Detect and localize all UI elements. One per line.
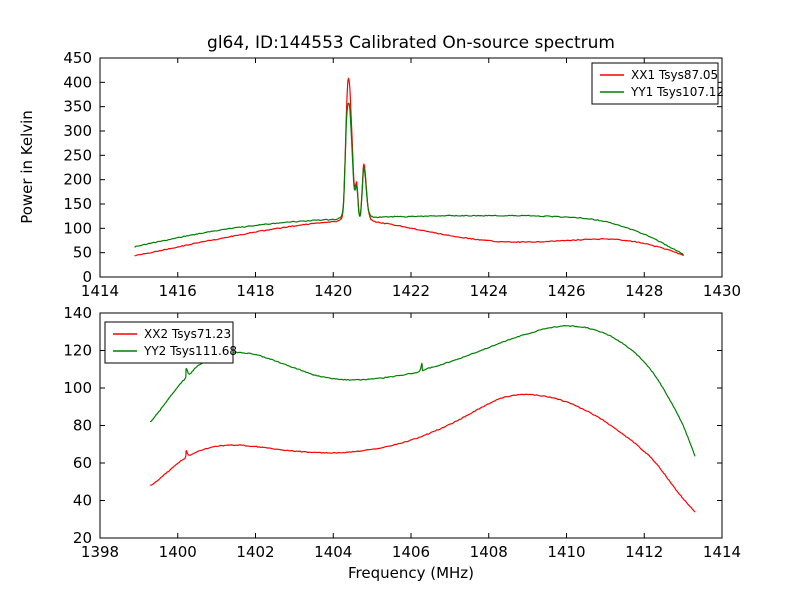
y-tick-label: 100 (63, 219, 92, 237)
x-tick-label: 1426 (547, 282, 585, 300)
y-tick-label: 50 (73, 244, 92, 262)
y-tick-label: 20 (73, 529, 92, 547)
x-tick-label: 1430 (703, 282, 741, 300)
bottom-panel-legend[interactable]: XX2 Tsys71.23 YY2 Tsys111.68 (105, 322, 237, 363)
spectrum-figure: gl64, ID:144553 Calibrated On-source spe… (0, 0, 800, 600)
x-tick-label: 1408 (470, 543, 508, 561)
x-tick-label: 1420 (314, 282, 352, 300)
top-legend-label-yy1: YY1 Tsys107.12 (630, 85, 724, 99)
x-tick-label: 1422 (392, 282, 430, 300)
y-tick-label: 80 (73, 417, 92, 435)
y-tick-label: 450 (63, 49, 92, 67)
x-tick-label: 1402 (236, 543, 274, 561)
y-tick-label: 300 (63, 122, 92, 140)
y-tick-label: 400 (63, 73, 92, 91)
y-tick-label: 60 (73, 454, 92, 472)
top-panel-legend[interactable]: XX1 Tsys87.05 YY1 Tsys107.12 (592, 63, 724, 104)
x-tick-label: 1406 (392, 543, 430, 561)
y-tick-label: 140 (63, 304, 92, 322)
y-tick-label: 350 (63, 98, 92, 116)
y-tick-label: 100 (63, 379, 92, 397)
top-legend-label-xx1: XX1 Tsys87.05 (631, 68, 718, 82)
x-tick-label: 1428 (625, 282, 663, 300)
bottom-legend-label-xx2: XX2 Tsys71.23 (144, 327, 231, 341)
y-tick-label: 200 (63, 171, 92, 189)
x-tick-label: 1410 (547, 543, 585, 561)
y-tick-label: 40 (73, 492, 92, 510)
x-tick-label: 1416 (159, 282, 197, 300)
x-tick-label: 1418 (236, 282, 274, 300)
top-panel-y-axis-label: Power in Kelvin (18, 110, 36, 224)
x-tick-label: 1414 (703, 543, 741, 561)
y-tick-label: 0 (82, 268, 92, 286)
y-tick-label: 120 (63, 342, 92, 360)
x-tick-label: 1404 (314, 543, 352, 561)
bottom-legend-label-yy2: YY2 Tsys111.68 (143, 344, 237, 358)
x-tick-label: 1424 (470, 282, 508, 300)
bottom-panel-x-axis-label: Frequency (MHz) (348, 564, 474, 582)
x-tick-label: 1400 (159, 543, 197, 561)
y-tick-label: 250 (63, 146, 92, 164)
y-tick-label: 150 (63, 195, 92, 213)
x-tick-label: 1412 (625, 543, 663, 561)
page-title: gl64, ID:144553 Calibrated On-source spe… (207, 33, 615, 53)
